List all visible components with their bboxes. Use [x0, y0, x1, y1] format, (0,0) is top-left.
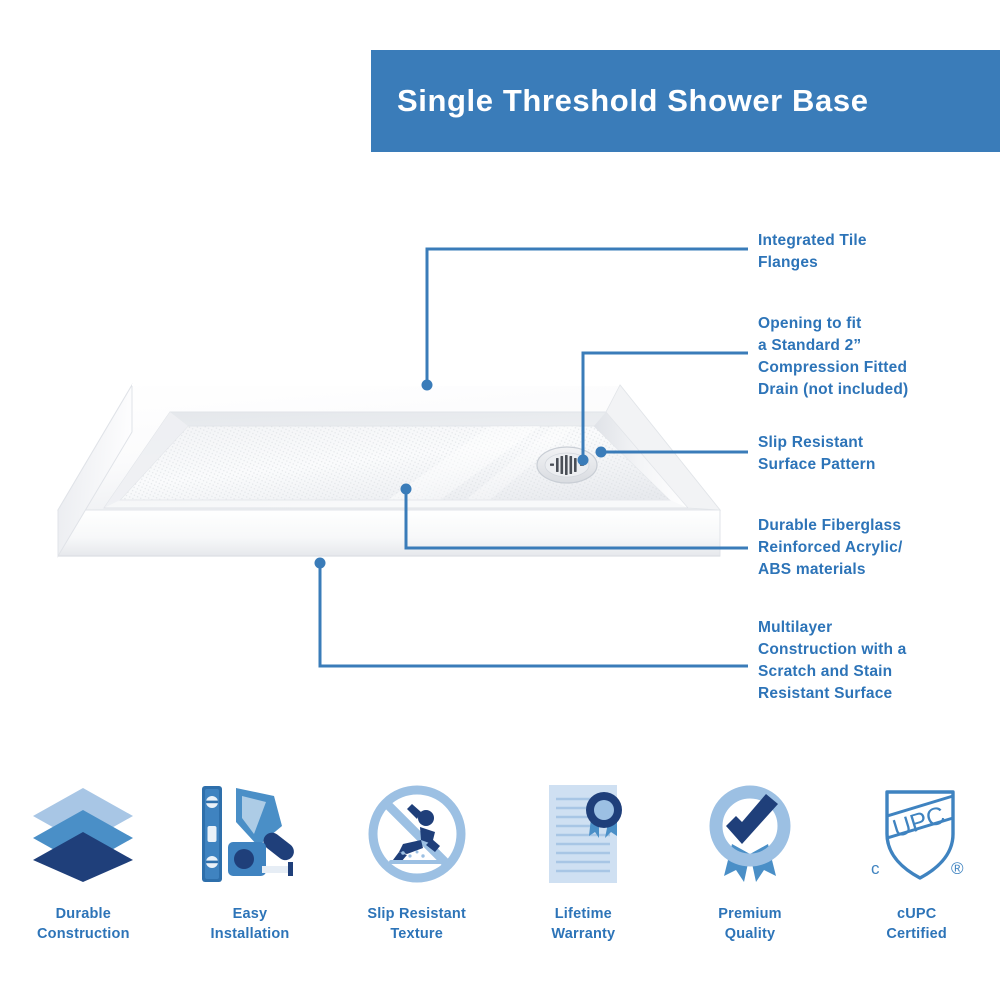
callout-drain-opening: Opening to fit a Standard 2” Compression… — [758, 313, 1000, 401]
callout-line: Flanges — [758, 252, 996, 274]
stacked-layers-icon — [29, 775, 137, 893]
drain-opening-graphic — [537, 447, 597, 483]
feature-row: Durable Construction — [0, 775, 1000, 975]
feature-label: Easy Installation — [211, 905, 290, 944]
feature-premium-quality: Premium Quality — [667, 775, 834, 975]
upc-shield-text: UPC — [889, 801, 948, 843]
callout-line: Surface Pattern — [758, 454, 996, 476]
callout-slip-resistant-surface-pattern: Slip Resistant Surface Pattern — [758, 432, 996, 476]
callout-line: ABS materials — [758, 559, 998, 581]
callout-line: Slip Resistant — [758, 432, 996, 454]
callout-line: Drain (not included) — [758, 379, 1000, 401]
page-title: Single Threshold Shower Base — [397, 83, 869, 119]
level-trowel-tape-icon — [196, 775, 304, 893]
callout-multilayer-construction: Multilayer Construction with a Scratch a… — [758, 617, 998, 705]
feature-durable-construction: Durable Construction — [0, 775, 167, 975]
callout-line: Construction with a — [758, 639, 998, 661]
product-illustration — [20, 360, 750, 600]
shower-base-drawing — [20, 360, 750, 600]
infographic-canvas: Single Threshold Shower Base — [0, 0, 1000, 1000]
callout-line: Reinforced Acrylic/ — [758, 537, 998, 559]
no-slip-icon — [363, 775, 471, 893]
feature-label: Slip Resistant Texture — [367, 905, 466, 944]
upc-shield-icon: UPC c ® — [863, 775, 971, 893]
callout-line: Multilayer — [758, 617, 998, 639]
feature-label: Lifetime Warranty — [551, 905, 615, 944]
callout-integrated-tile-flanges: Integrated Tile Flanges — [758, 230, 996, 274]
callout-line: Integrated Tile — [758, 230, 996, 252]
feature-label: cUPC Certified — [886, 905, 947, 944]
callout-line: Resistant Surface — [758, 683, 998, 705]
callout-line: Durable Fiberglass — [758, 515, 998, 537]
feature-cupc-certified: UPC c ® cUPC Certified — [833, 775, 1000, 975]
callout-line: Scratch and Stain — [758, 661, 998, 683]
certificate-icon — [529, 775, 637, 893]
feature-easy-installation: Easy Installation — [167, 775, 334, 975]
cupc-prefix-letter: c — [871, 859, 880, 878]
feature-label: Durable Construction — [37, 905, 130, 944]
callout-line: Opening to fit — [758, 313, 1000, 335]
feature-slip-resistant-texture: Slip Resistant Texture — [333, 775, 500, 975]
callout-line: a Standard 2” — [758, 335, 1000, 357]
ribbon-check-icon — [696, 775, 804, 893]
registered-mark: ® — [951, 859, 964, 878]
feature-lifetime-warranty: Lifetime Warranty — [500, 775, 667, 975]
feature-label: Premium Quality — [718, 905, 781, 944]
title-banner: Single Threshold Shower Base — [371, 50, 1000, 152]
callout-durable-materials: Durable Fiberglass Reinforced Acrylic/ A… — [758, 515, 998, 581]
callout-line: Compression Fitted — [758, 357, 1000, 379]
